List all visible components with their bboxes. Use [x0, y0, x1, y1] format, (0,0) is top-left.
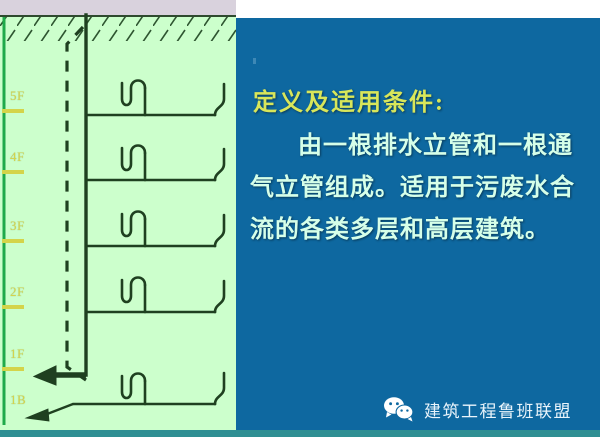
floor-label-1b: 1B [10, 392, 26, 408]
panel-title: 定义及适用条件: [253, 82, 445, 117]
panel-body-text: 由一根排水立管和一根通气立管组成。适用于污废水合流的各类多层和高层建筑。 [250, 125, 594, 251]
brand-name: 建筑工程鲁班联盟 [424, 397, 572, 422]
vent-stack [67, 27, 86, 380]
top-white-strip [236, 0, 600, 18]
screenshot-root: 定义及适用条件: 由一根排水立管和一根通气立管组成。适用于污废水合流的各类多层和… [0, 0, 600, 437]
wechat-icon [383, 396, 415, 422]
floor-tick-2f [2, 305, 24, 309]
branch-assembly-5f [86, 81, 224, 116]
ground-hatch-icon [0, 17, 236, 41]
outlet-arrow-basement [26, 404, 73, 421]
branch-assembly-2f [86, 278, 224, 313]
branch-assembly-1f [73, 373, 224, 404]
floor-label-2f: 2F [10, 284, 25, 300]
base-strip [0, 430, 600, 437]
outlet-arrow-main [34, 366, 86, 385]
floor-tick-5f [2, 109, 24, 113]
floor-tick-4f [2, 170, 24, 174]
floor-label-4f: 4F [10, 149, 25, 165]
floor-label-3f: 3F [10, 218, 25, 234]
floor-label-1f: 1F [10, 346, 25, 362]
branch-assembly-4f [86, 146, 224, 181]
plumbing-riser-diagram [0, 0, 236, 437]
diagram-panel: 5F 4F 3F 2F 1F 1B [0, 0, 236, 437]
decorative-speck [253, 58, 256, 64]
floor-label-5f: 5F [10, 88, 25, 104]
floor-tick-1f [2, 367, 24, 371]
branch-assembly-3f [86, 212, 224, 247]
footer-brand: 建筑工程鲁班联盟 [383, 396, 572, 422]
floor-tick-3f [2, 239, 24, 243]
